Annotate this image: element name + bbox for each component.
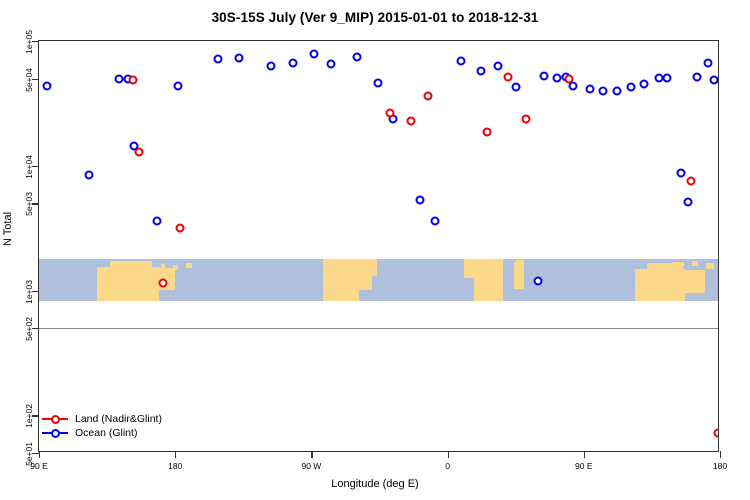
scatter-point[interactable] [159, 279, 168, 288]
landmass-madagascar-n [516, 260, 523, 268]
x-tick [584, 451, 585, 458]
y-tick-label: 1e+05 [24, 41, 34, 65]
world-map-band [39, 259, 718, 300]
x-tick [175, 451, 176, 458]
x-tick-label: 90 W [301, 461, 321, 471]
scatter-point[interactable] [626, 83, 635, 92]
scatter-point[interactable] [407, 116, 416, 125]
scatter-point[interactable] [352, 52, 361, 61]
landmass-s-america-coast [364, 259, 377, 276]
x-tick-label: 90 E [30, 461, 48, 471]
scatter-point[interactable] [373, 78, 382, 87]
legend: Land (Nadir&Glint)Ocean (Glint) [42, 412, 162, 440]
scatter-point[interactable] [504, 73, 513, 82]
landmass-fiji-a [145, 268, 150, 273]
scatter-point[interactable] [174, 81, 183, 90]
scatter-point[interactable] [703, 59, 712, 68]
x-axis-title: Longitude (deg E) [0, 478, 750, 490]
scatter-point[interactable] [266, 62, 275, 71]
scatter-point[interactable] [564, 74, 573, 83]
x-tick-label: 180 [713, 461, 727, 471]
plot-area: 5e+011e+025e+021e+035e+031e+045e+041e+05… [38, 40, 719, 452]
scatter-point[interactable] [709, 76, 718, 85]
scatter-point[interactable] [423, 92, 432, 101]
scatter-point[interactable] [153, 217, 162, 226]
scatter-point[interactable] [457, 57, 466, 66]
y-tick-label: 1e+04 [24, 166, 34, 190]
x-tick-label: 90 E [575, 461, 593, 471]
gridline [39, 328, 718, 329]
legend-label: Ocean (Glint) [75, 426, 137, 440]
landmass-australia-w2 [635, 269, 685, 300]
scatter-point[interactable] [613, 87, 622, 96]
landmass-indonesia-b [706, 263, 714, 269]
scatter-point[interactable] [640, 80, 649, 89]
legend-entry[interactable]: Land (Nadir&Glint) [42, 412, 162, 426]
x-tick [448, 451, 449, 458]
scatter-point[interactable] [84, 171, 93, 180]
scatter-point[interactable] [522, 115, 531, 124]
y-tick-label: 5e+02 [24, 328, 34, 352]
scatter-point[interactable] [511, 82, 520, 91]
scatter-point[interactable] [585, 84, 594, 93]
scatter-point[interactable] [175, 223, 184, 232]
scatter-point[interactable] [115, 75, 124, 84]
scatter-point[interactable] [289, 58, 298, 67]
y-tick-label: 5e+03 [24, 203, 34, 227]
scatter-point[interactable] [684, 198, 693, 207]
scatter-point[interactable] [134, 148, 143, 157]
x-tick-label: 180 [168, 461, 182, 471]
x-tick [720, 451, 721, 458]
legend-label: Land (Nadir&Glint) [75, 412, 162, 426]
landmass-africa-north [464, 259, 482, 278]
plot-clip [39, 41, 718, 451]
scatter-point[interactable] [493, 61, 502, 70]
scatter-point[interactable] [540, 71, 549, 80]
scatter-point[interactable] [714, 429, 718, 438]
scatter-point[interactable] [386, 108, 395, 117]
x-tick [311, 451, 312, 458]
x-tick-label: 0 [445, 461, 450, 471]
y-axis-title: N Total [2, 212, 14, 246]
scatter-point[interactable] [327, 59, 336, 68]
landmass-timor [692, 261, 698, 266]
legend-marker-icon [42, 428, 68, 438]
scatter-point[interactable] [476, 66, 485, 75]
landmass-indonesia-a [673, 262, 684, 266]
scatter-point[interactable] [663, 74, 672, 83]
scatter-point[interactable] [534, 276, 543, 285]
legend-entry[interactable]: Ocean (Glint) [42, 426, 162, 440]
scatter-point[interactable] [693, 72, 702, 81]
scatter-point[interactable] [310, 50, 319, 59]
landmass-australia-e2 [685, 270, 705, 293]
scatter-point[interactable] [599, 87, 608, 96]
scatter-point[interactable] [569, 82, 578, 91]
scatter-point[interactable] [687, 176, 696, 185]
scatter-point[interactable] [676, 168, 685, 177]
landmass-fiji-b [161, 264, 166, 269]
landmass-polynesia [173, 265, 177, 270]
legend-marker-icon [42, 414, 68, 424]
page-title: 30S-15S July (Ver 9_MIP) 2015-01-01 to 2… [0, 10, 750, 25]
scatter-point[interactable] [234, 54, 243, 63]
x-tick [39, 451, 40, 458]
y-tick-label: 5e+04 [24, 79, 34, 103]
landmass-samoa [127, 265, 131, 269]
scatter-point[interactable] [213, 54, 222, 63]
scatter-point[interactable] [552, 74, 561, 83]
scatter-point[interactable] [42, 82, 51, 91]
scatter-point[interactable] [482, 128, 491, 137]
y-tick-label: 1e+02 [24, 415, 34, 439]
landmass-new-caledonia [186, 263, 193, 268]
scatter-point[interactable] [128, 76, 137, 85]
scatter-point[interactable] [431, 217, 440, 226]
scatter-point[interactable] [416, 196, 425, 205]
y-tick-label: 1e+03 [24, 291, 34, 315]
